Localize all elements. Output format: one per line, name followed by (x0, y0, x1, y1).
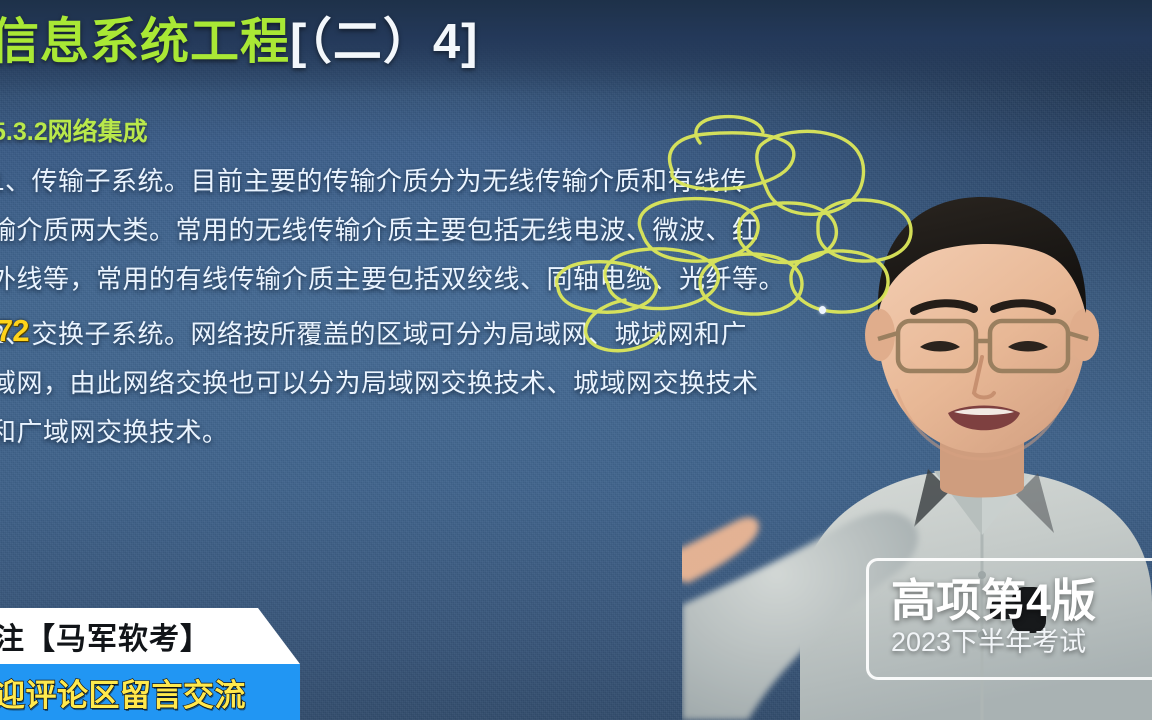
course-edition-badge: 高项第4版 2023下半年考试 (866, 558, 1152, 680)
badge-title: 高项第4版 (891, 578, 1152, 624)
overlay-counter: 72 (0, 313, 28, 349)
video-frame: 信息系统工程[（二）4] 5.3.2网络集成 1、传输子系统。目前主要的传输介质… (0, 0, 1152, 720)
follow-banner[interactable]: 注【马军软考】 (0, 608, 300, 664)
slide-title-main: 信息系统工程 (0, 15, 290, 69)
badge-subtitle: 2023下半年考试 (891, 626, 1152, 660)
slide-title-bracket: [（二）4] (290, 15, 478, 69)
follow-banner-label: 注【马军软考】 (0, 614, 211, 658)
slide-title: 信息系统工程[（二）4] (0, 18, 478, 67)
section-heading: 5.3.2网络集成 (0, 112, 148, 148)
comment-banner-label: 迎评论区留言交流 (0, 670, 246, 715)
presenter-head (865, 197, 1099, 459)
comment-banner[interactable]: 迎评论区留言交流 (0, 664, 300, 720)
pointer-dot (819, 306, 826, 314)
